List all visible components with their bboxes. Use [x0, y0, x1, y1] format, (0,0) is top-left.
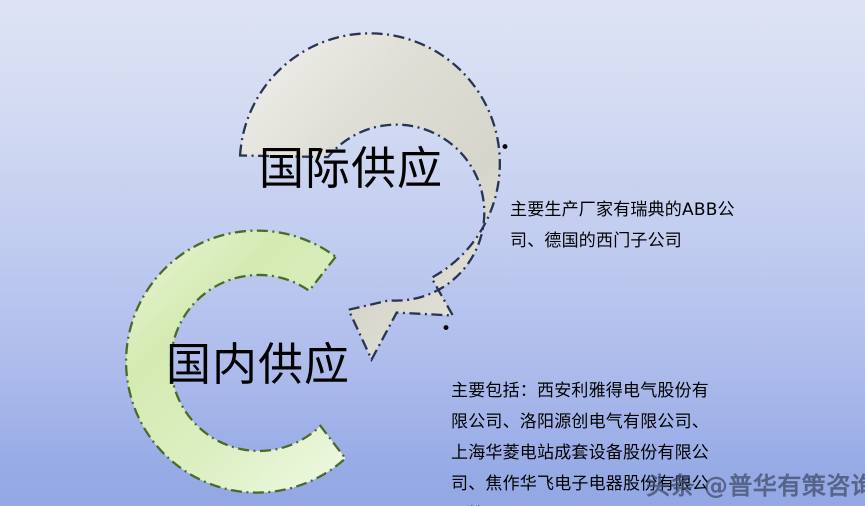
bullet-point-icon: • [441, 314, 451, 345]
international-supply-callout-text: 主要生产厂家有瑞典的ABB公司、德国的西门子公司 [500, 195, 750, 257]
watermark: 头条 @普华有策咨询 [646, 466, 865, 501]
international-supply-callout: • 主要生产厂家有瑞典的ABB公司、德国的西门子公司 [500, 133, 750, 288]
international-supply-label: 国际供应 [259, 132, 443, 197]
slide-canvas: 国际供应 国内供应 • 主要生产厂家有瑞典的ABB公司、德国的西门子公司 • 主… [0, 0, 865, 506]
bullet-point-icon: • [500, 133, 510, 164]
domestic-supply-label: 国内供应 [166, 328, 350, 393]
